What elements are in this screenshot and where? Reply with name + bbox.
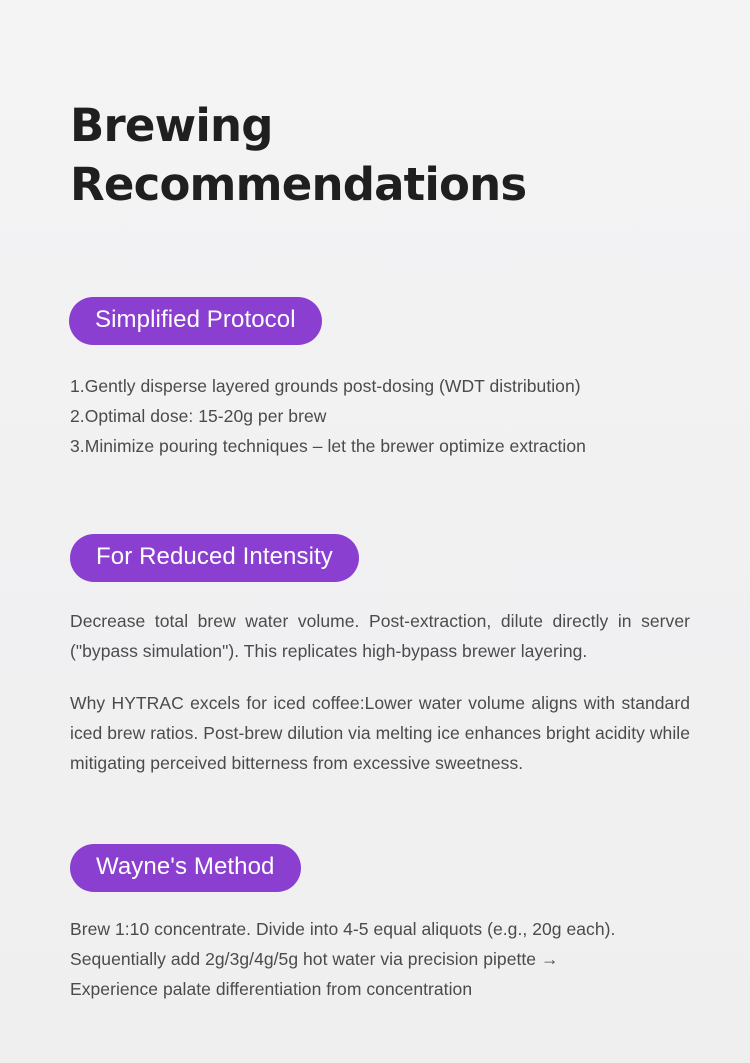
badge-waynes-method: Wayne's Method: [70, 844, 301, 892]
list-item-index: 2.: [70, 406, 85, 426]
list-item-label: Optimal dose: 15-20g per brew: [85, 406, 327, 426]
waynes-method-line: Brew 1:10 concentrate. Divide into 4-5 e…: [70, 914, 690, 944]
waynes-method-line: Sequentially add 2g/3g/4g/5g hot water v…: [70, 944, 690, 974]
list-item-index: 1.: [70, 376, 85, 396]
reduced-intensity-paragraph-2: Why HYTRAC excels for iced coffee:Lower …: [70, 688, 690, 778]
section-simplified-protocol: Simplified Protocol: [69, 297, 690, 345]
list-item: 2.Optimal dose: 15-20g per brew: [70, 401, 690, 431]
badge-for-reduced-intensity: For Reduced Intensity: [70, 534, 359, 582]
page-title-line-1: Brewing: [70, 99, 273, 152]
badge-simplified-protocol: Simplified Protocol: [69, 297, 322, 345]
page-title-line-2: Recommendations: [70, 158, 526, 211]
reduced-intensity-paragraph-1: Decrease total brew water volume. Post-e…: [70, 606, 690, 666]
page-title: BrewingRecommendations: [70, 0, 630, 215]
simplified-protocol-list: 1.Gently disperse layered grounds post-d…: [70, 371, 690, 461]
list-item-label: Gently disperse layered grounds post-dos…: [85, 376, 581, 396]
section-for-reduced-intensity: For Reduced Intensity: [70, 534, 690, 582]
waynes-method-steps: Brew 1:10 concentrate. Divide into 4-5 e…: [70, 914, 690, 1004]
brewing-recommendations-page: BrewingRecommendations Simplified Protoc…: [0, 0, 750, 1063]
list-item: 3.Minimize pouring techniques – let the …: [70, 431, 690, 461]
section-waynes-method: Wayne's Method: [70, 844, 690, 892]
waynes-method-line: Experience palate differentiation from c…: [70, 974, 690, 1004]
list-item-label: Minimize pouring techniques – let the br…: [85, 436, 586, 456]
list-item: 1.Gently disperse layered grounds post-d…: [70, 371, 690, 401]
list-item-index: 3.: [70, 436, 85, 456]
